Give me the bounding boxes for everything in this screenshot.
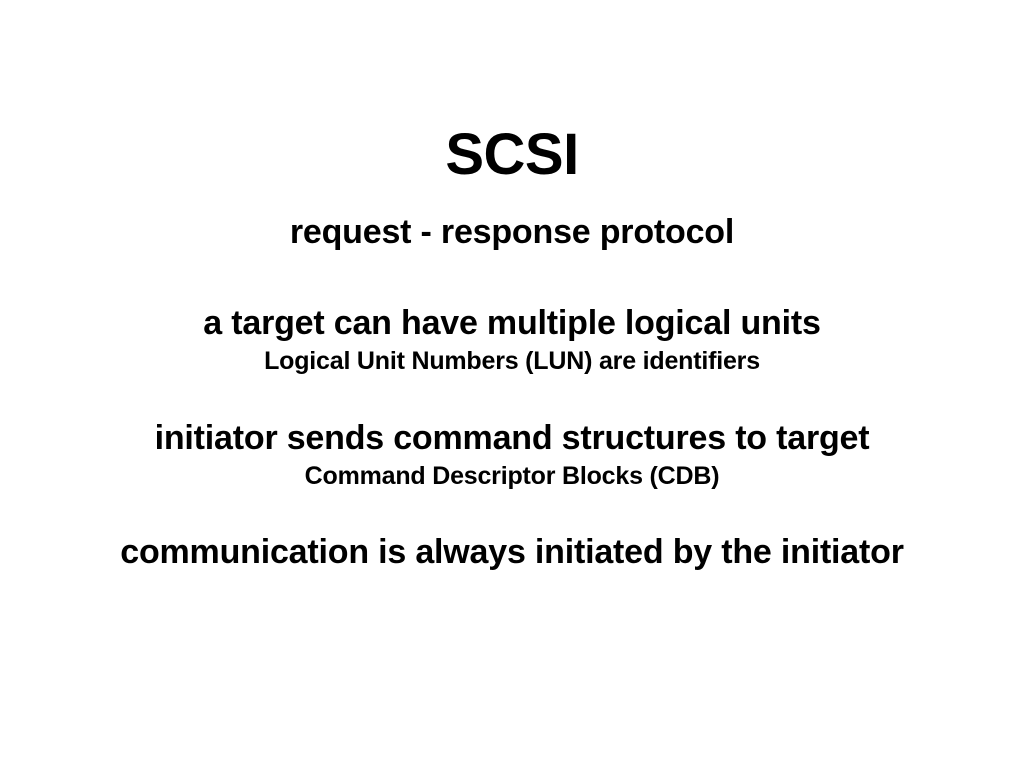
content-line-major: initiator sends command structures to ta… xyxy=(0,419,1024,458)
content-line-major: communication is always initiated by the… xyxy=(0,533,1024,572)
page-title: SCSI xyxy=(0,125,1024,186)
content-block-communication: communication is always initiated by the… xyxy=(0,533,1024,572)
content-line-major: a target can have multiple logical units xyxy=(0,304,1024,343)
content-line-minor: Command Descriptor Blocks (CDB) xyxy=(0,462,1024,492)
slide-canvas: SCSI request - response protocol a targe… xyxy=(0,0,1024,768)
content-line-minor: Logical Unit Numbers (LUN) are identifie… xyxy=(0,347,1024,377)
content-block-logical-units: a target can have multiple logical units… xyxy=(0,304,1024,377)
content-block-protocol: request - response protocol xyxy=(0,213,1024,252)
content-block-command-structures: initiator sends command structures to ta… xyxy=(0,419,1024,492)
content-line-major: request - response protocol xyxy=(0,213,1024,252)
